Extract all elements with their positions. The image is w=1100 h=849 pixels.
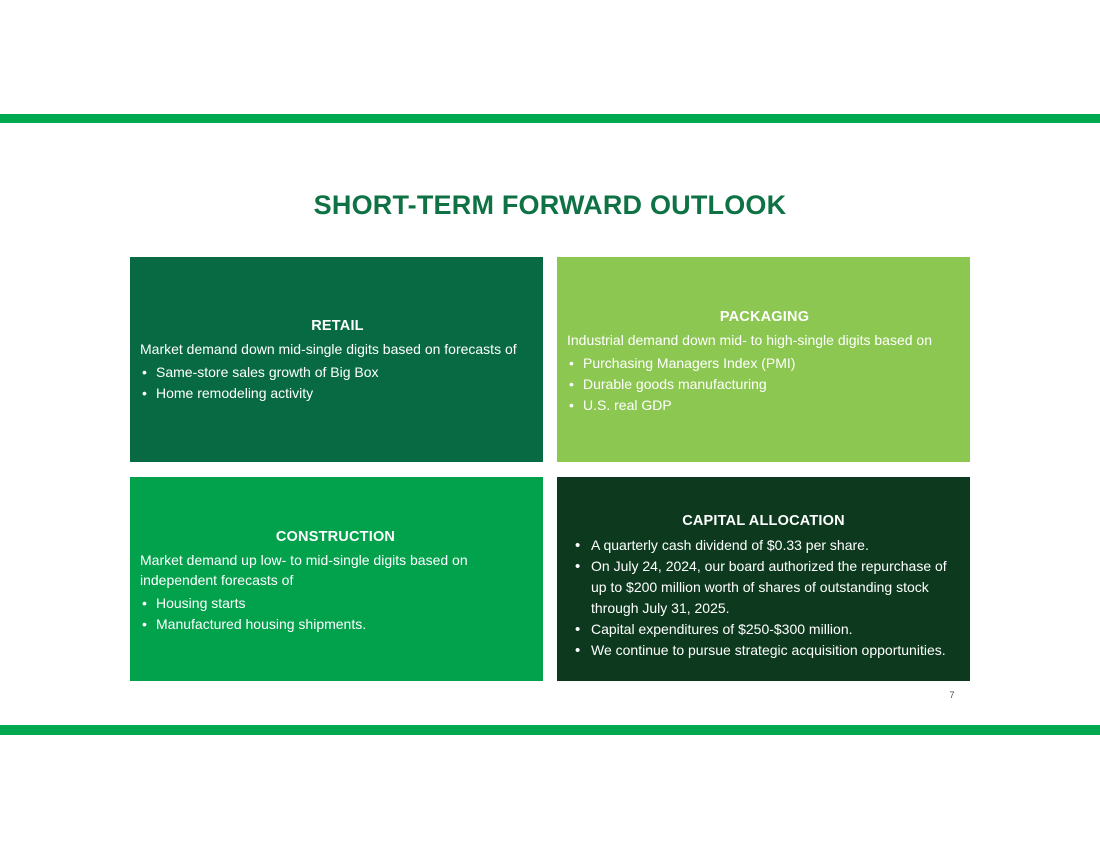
card-packaging-title: PACKAGING	[567, 309, 962, 326]
list-item: We continue to pursue strategic acquisit…	[569, 640, 958, 661]
card-capital-allocation-content: CAPITAL ALLOCATION A quarterly cash divi…	[569, 513, 958, 661]
card-construction-title: CONSTRUCTION	[140, 529, 531, 546]
page-number: 7	[930, 690, 974, 700]
card-capital-allocation-title: CAPITAL ALLOCATION	[569, 513, 958, 530]
slide-root: SHORT-TERM FORWARD OUTLOOK RETAIL Market…	[0, 0, 1100, 849]
card-capital-allocation-bullets: A quarterly cash dividend of $0.33 per s…	[569, 535, 958, 661]
list-item: U.S. real GDP	[567, 395, 962, 416]
list-item: On July 24, 2024, our board authorized t…	[569, 556, 958, 619]
card-retail-content: RETAIL Market demand down mid-single dig…	[140, 318, 535, 404]
card-packaging: PACKAGING Industrial demand down mid- to…	[557, 257, 970, 462]
card-construction-bullets: Housing starts Manufactured housing ship…	[140, 593, 531, 635]
page-title: SHORT-TERM FORWARD OUTLOOK	[0, 190, 1100, 221]
list-item: Durable goods manufacturing	[567, 374, 962, 395]
card-construction-lead: Market demand up low- to mid-single digi…	[140, 551, 531, 591]
card-retail-lead: Market demand down mid-single digits bas…	[140, 340, 535, 360]
list-item: Manufactured housing shipments.	[140, 614, 531, 635]
list-item: Purchasing Managers Index (PMI)	[567, 353, 962, 374]
card-packaging-bullets: Purchasing Managers Index (PMI) Durable …	[567, 353, 962, 416]
list-item: Capital expenditures of $250-$300 millio…	[569, 619, 958, 640]
card-retail-bullets: Same-store sales growth of Big Box Home …	[140, 362, 535, 404]
outlook-card-grid: RETAIL Market demand down mid-single dig…	[130, 257, 970, 681]
top-accent-rule	[0, 114, 1100, 123]
card-construction-content: CONSTRUCTION Market demand up low- to mi…	[140, 529, 531, 635]
card-retail: RETAIL Market demand down mid-single dig…	[130, 257, 543, 462]
list-item: Housing starts	[140, 593, 531, 614]
card-capital-allocation: CAPITAL ALLOCATION A quarterly cash divi…	[557, 477, 970, 681]
list-item: Home remodeling activity	[140, 383, 535, 404]
list-item: A quarterly cash dividend of $0.33 per s…	[569, 535, 958, 556]
card-retail-title: RETAIL	[140, 318, 535, 335]
card-packaging-lead: Industrial demand down mid- to high-sing…	[567, 331, 962, 351]
card-construction: CONSTRUCTION Market demand up low- to mi…	[130, 477, 543, 681]
list-item: Same-store sales growth of Big Box	[140, 362, 535, 383]
card-packaging-content: PACKAGING Industrial demand down mid- to…	[567, 309, 962, 416]
bottom-accent-rule	[0, 725, 1100, 735]
